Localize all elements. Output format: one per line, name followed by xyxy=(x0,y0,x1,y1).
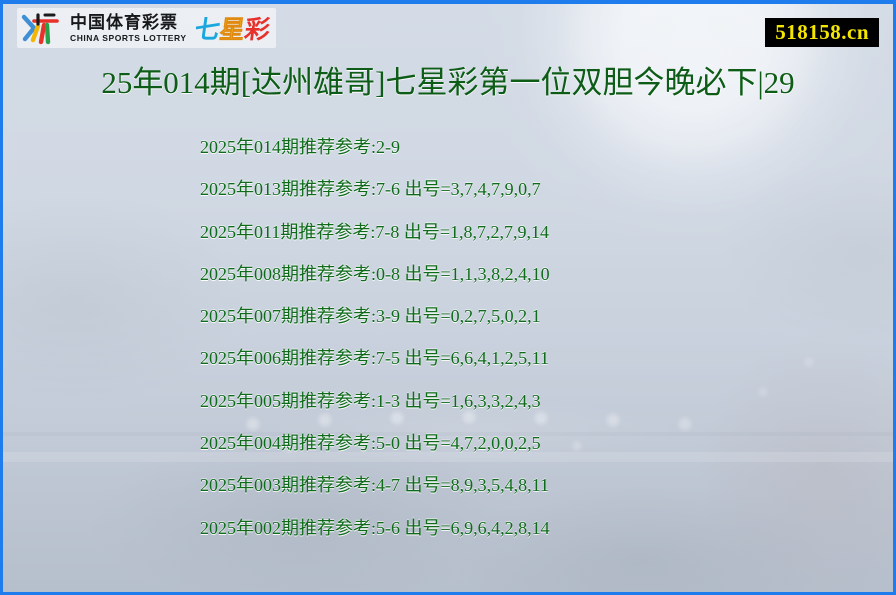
list-item: 2025年002期推荐参考:5-6 出号=6,9,6,4,2,8,14 xyxy=(3,507,893,549)
list-item: 2025年005期推荐参考:1-3 出号=1,6,3,3,2,4,3 xyxy=(3,380,893,422)
prediction-list: 2025年014期推荐参考:2-9 2025年013期推荐参考:7-6 出号=3… xyxy=(3,126,893,549)
brand-name-block: 中国体育彩票 CHINA SPORTS LOTTERY xyxy=(70,14,187,43)
top-border-rule xyxy=(3,0,893,4)
list-item: 2025年004期推荐参考:5-0 出号=4,7,2,0,0,2,5 xyxy=(3,422,893,464)
list-item: 2025年006期推荐参考:7-5 出号=6,6,4,1,2,5,11 xyxy=(3,337,893,379)
brand-name-cn: 中国体育彩票 xyxy=(70,14,187,31)
brand-logo: 中国体育彩票 CHINA SPORTS LOTTERY 七星彩 xyxy=(17,8,276,48)
china-sports-lottery-logo-icon xyxy=(21,11,63,45)
product-char-2: 星 xyxy=(217,16,246,44)
product-char-3: 彩 xyxy=(242,16,271,44)
list-item: 2025年008期推荐参考:0-8 出号=1,1,3,8,2,4,10 xyxy=(3,253,893,295)
page-title: 25年014期[达州雄哥]七星彩第一位双胆今晚必下|29 xyxy=(3,57,893,102)
list-item: 2025年011期推荐参考:7-8 出号=1,8,7,2,7,9,14 xyxy=(3,211,893,253)
lottery-prediction-page: 中国体育彩票 CHINA SPORTS LOTTERY 七星彩 518158.c… xyxy=(0,0,896,595)
list-item: 2025年003期推荐参考:4-7 出号=8,9,3,5,4,8,11 xyxy=(3,464,893,506)
site-watermark: 518158.cn xyxy=(765,18,879,47)
list-item: 2025年013期推荐参考:7-6 出号=3,7,4,7,9,0,7 xyxy=(3,168,893,210)
product-name-qixingcai: 七星彩 xyxy=(192,10,272,46)
product-char-1: 七 xyxy=(192,16,221,44)
brand-name-en: CHINA SPORTS LOTTERY xyxy=(70,34,187,43)
list-item: 2025年014期推荐参考:2-9 xyxy=(3,126,893,168)
list-item: 2025年007期推荐参考:3-9 出号=0,2,7,5,0,2,1 xyxy=(3,295,893,337)
